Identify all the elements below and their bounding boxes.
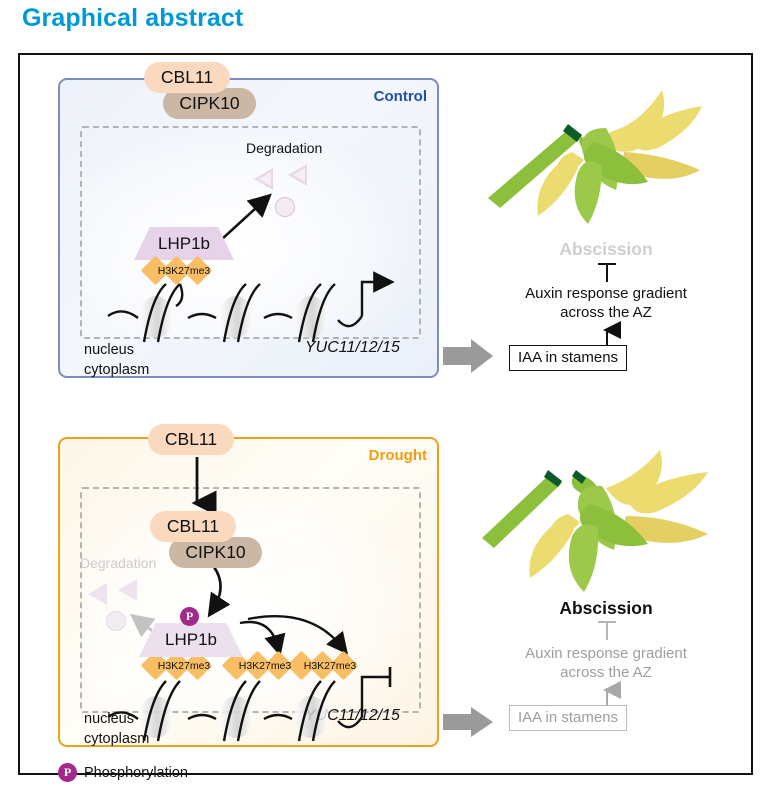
drought-lhp1b-label: LHP1b xyxy=(165,630,217,650)
drought-degradation-circle xyxy=(106,611,126,631)
legend-phospho-icon: P xyxy=(58,763,77,782)
control-iaa-box: IAA in stamens xyxy=(509,345,627,371)
control-auxin-line-1: Auxin response gradient xyxy=(525,285,687,302)
drought-phospho-mark: P xyxy=(180,607,199,626)
drought-cbl11-entry-arrow xyxy=(182,457,212,513)
drought-abscission-label: Abscission xyxy=(516,598,696,619)
drought-cbl11-blob: CBL11 xyxy=(150,511,236,542)
legend: P Phosphorylation xyxy=(58,763,188,782)
drought-cbl11-outside-blob: CBL11 xyxy=(148,424,234,455)
drought-flower-illustration xyxy=(478,438,720,588)
control-cbl11-blob: CBL11 xyxy=(144,62,230,93)
drought-auxin-line-2: across the AZ xyxy=(560,664,652,681)
control-flow-arrow xyxy=(443,337,495,375)
control-cytoplasm-label: cytoplasm xyxy=(84,362,149,378)
drought-degradation-label: Degradation xyxy=(80,555,156,571)
drought-auxin-line-1: Auxin response gradient xyxy=(525,645,687,662)
drought-activation-arrow xyxy=(596,684,618,706)
drought-iaa-box: IAA in stamens xyxy=(509,705,627,731)
control-h3k27me3-group: H3K27me3 xyxy=(142,256,226,286)
control-panel-label: Control xyxy=(374,88,427,105)
control-panel: Control nucleus cytoplasm YUC11/12/15 De… xyxy=(58,78,439,378)
drought-h3k27me3-group-3: H3K27me3 xyxy=(288,651,372,681)
control-auxin-line-2: across the AZ xyxy=(560,304,652,321)
page-title: Graphical abstract xyxy=(22,4,243,33)
control-activation-arrow xyxy=(596,324,618,346)
drought-inhibition-bar-1 xyxy=(596,620,618,642)
drought-degradation-triangle-2 xyxy=(118,579,137,601)
drought-panel-label: Drought xyxy=(369,447,427,464)
control-flower-illustration xyxy=(478,80,720,230)
drought-h3k27me3-label-3: H3K27me3 xyxy=(288,651,372,681)
control-abscission-label: Abscission xyxy=(516,239,696,260)
drought-flow-arrow xyxy=(443,705,495,739)
control-degradation-label: Degradation xyxy=(246,140,322,156)
control-inhibition-bar-1 xyxy=(596,262,618,284)
drought-degradation-triangle-1 xyxy=(88,583,107,605)
drought-panel: Drought nucleus cytoplasm YUC11/12/15 CB… xyxy=(58,437,439,747)
legend-phospho-label: Phosphorylation xyxy=(84,765,188,781)
drought-lhp1b: LHP1b xyxy=(139,623,243,657)
control-h3k27me3-label: H3K27me3 xyxy=(142,256,226,286)
control-lhp1b-label: LHP1b xyxy=(158,234,210,254)
